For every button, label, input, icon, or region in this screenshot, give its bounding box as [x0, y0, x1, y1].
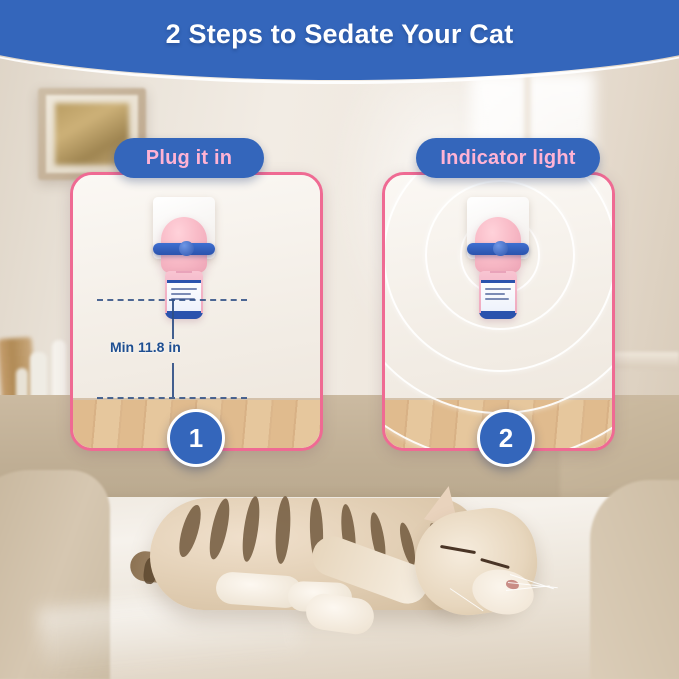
- diffuser-bottle-icon: [165, 271, 203, 319]
- dimension-bottom-guide: [97, 397, 247, 399]
- bottle-base: [479, 313, 517, 319]
- header-banner: 2 Steps to Sedate Your Cat: [0, 0, 679, 86]
- sleeping-cat: [120, 470, 560, 660]
- bottle-base: [165, 313, 203, 319]
- step-2-badge-label: Indicator light: [440, 147, 575, 170]
- diffuser-band-icon: [467, 243, 529, 255]
- dimension-label: Min 11.8 in: [110, 339, 181, 355]
- sofa-arm-right: [590, 480, 679, 679]
- step-number-2: 2: [477, 409, 535, 467]
- dimension-line-lower: [172, 363, 174, 397]
- diffuser-knob-icon: [493, 241, 508, 256]
- dimension-line-upper: [172, 299, 174, 339]
- infographic-canvas: 2 Steps to Sedate Your Cat: [0, 0, 679, 679]
- bottle-label: [481, 280, 515, 314]
- step-number-1: 1: [167, 409, 225, 467]
- step-2-number: 2: [499, 425, 513, 451]
- step-1-scene: Min 11.8 in: [73, 175, 320, 448]
- step-2-badge[interactable]: Indicator light: [416, 138, 600, 178]
- diffuser-knob-icon: [179, 241, 194, 256]
- diffuser-bottle-icon: [479, 271, 517, 319]
- step-1-badge[interactable]: Plug it in: [114, 138, 264, 178]
- label-text-line: [171, 288, 197, 290]
- diffuser-band-icon: [153, 243, 215, 255]
- label-text-line: [485, 293, 505, 295]
- label-text-line: [485, 298, 509, 300]
- label-text-line: [171, 293, 191, 295]
- step-2-scene: [385, 175, 612, 448]
- bottle-neck: [176, 271, 192, 273]
- step-1-badge-label: Plug it in: [146, 147, 232, 170]
- step-1-number: 1: [189, 425, 203, 451]
- bottle-neck: [490, 271, 506, 273]
- page-title: 2 Steps to Sedate Your Cat: [0, 19, 679, 50]
- label-text-line: [485, 288, 511, 290]
